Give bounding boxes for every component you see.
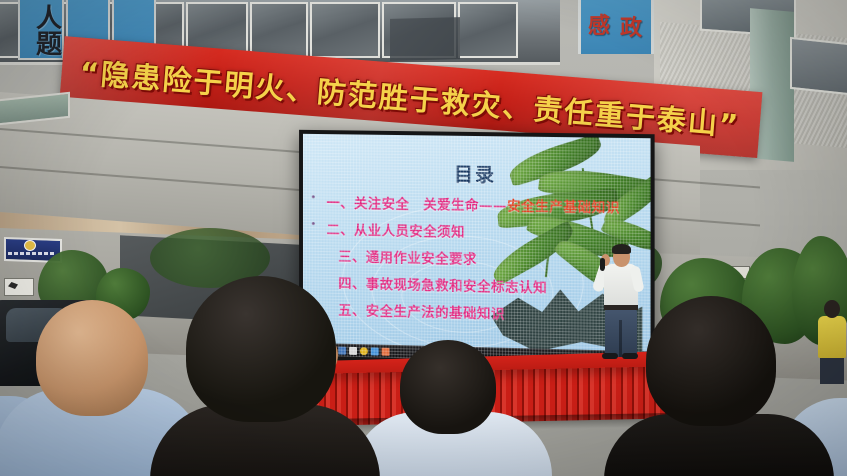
bystander-head bbox=[824, 300, 840, 318]
taskbar-icon-2[interactable] bbox=[349, 346, 357, 354]
slide-item-number: 二、 bbox=[327, 222, 355, 238]
audience-member-head bbox=[400, 340, 496, 434]
slide-item-text: 事故现场急救和安全标志认知 bbox=[366, 277, 547, 297]
window bbox=[790, 37, 847, 95]
audience-member-head-bald bbox=[36, 300, 148, 416]
speaker-leg-gap bbox=[619, 320, 622, 357]
led-screen: 目录 一、关注安全 关爱生命——安全生产基础知识 二、从业人员安全须知 三、通用… bbox=[299, 130, 655, 369]
plaque-text-line bbox=[8, 252, 56, 255]
bystander-body bbox=[818, 316, 846, 358]
slide-list-item: 一、关注安全 关爱生命——安全生产基础知识 bbox=[321, 192, 651, 218]
window bbox=[458, 2, 518, 58]
speaker-belt bbox=[604, 305, 638, 310]
photo-scene: 人 题 感 政 “隐患险于明火、防范胜于救灾、责任重于泰山” bbox=[0, 0, 847, 476]
taskbar-icon-4[interactable] bbox=[371, 347, 379, 355]
building-sign-char-3: 感 bbox=[588, 8, 610, 40]
slide-item-number: 四、 bbox=[338, 276, 366, 292]
slide-surface: 目录 一、关注安全 关爱生命——安全生产基础知识 二、从业人员安全须知 三、通用… bbox=[303, 134, 651, 365]
audience-member-head bbox=[186, 276, 336, 422]
slide-item-number: 三、 bbox=[338, 249, 366, 265]
slide-title: 目录 bbox=[303, 158, 651, 190]
window bbox=[310, 2, 380, 58]
bystander-legs bbox=[820, 356, 844, 384]
speaker-hair bbox=[612, 244, 631, 254]
slide-item-number: 一、 bbox=[327, 196, 355, 212]
slide-item-text: 安全生产法的基础知识 bbox=[366, 304, 505, 323]
slide-item-text: 从业人员安全须知 bbox=[354, 223, 465, 241]
audience-member-head bbox=[646, 296, 776, 426]
window bbox=[250, 2, 308, 58]
speaker-shoe bbox=[622, 353, 638, 359]
window-reflection bbox=[390, 17, 460, 61]
bullet-dot-icon bbox=[312, 195, 315, 198]
slide-item-subtext: 安全生产基础知识 bbox=[507, 199, 620, 217]
taskbar-icon-3[interactable] bbox=[360, 347, 368, 355]
notice-sign bbox=[4, 278, 34, 296]
slide-list-item: 五、安全生产法的基础知识 bbox=[321, 299, 651, 327]
notice-icon bbox=[8, 282, 18, 289]
taskbar-icon-5[interactable] bbox=[382, 347, 390, 355]
building-sign-char-2: 题 bbox=[36, 24, 62, 61]
taskbar-icon-1[interactable] bbox=[338, 346, 346, 354]
speaker-shoe bbox=[602, 353, 618, 359]
slide-item-text: 关注安全 关爱生命—— bbox=[354, 196, 507, 215]
bullet-dot-icon bbox=[312, 222, 315, 225]
slide-item-number: 五、 bbox=[338, 303, 366, 320]
slide-list-item: 二、从业人员安全须知 bbox=[321, 218, 651, 244]
slide-item-text: 通用作业安全要求 bbox=[366, 250, 477, 268]
emblem-icon bbox=[24, 240, 36, 251]
building-sign-char-4: 政 bbox=[620, 10, 642, 42]
